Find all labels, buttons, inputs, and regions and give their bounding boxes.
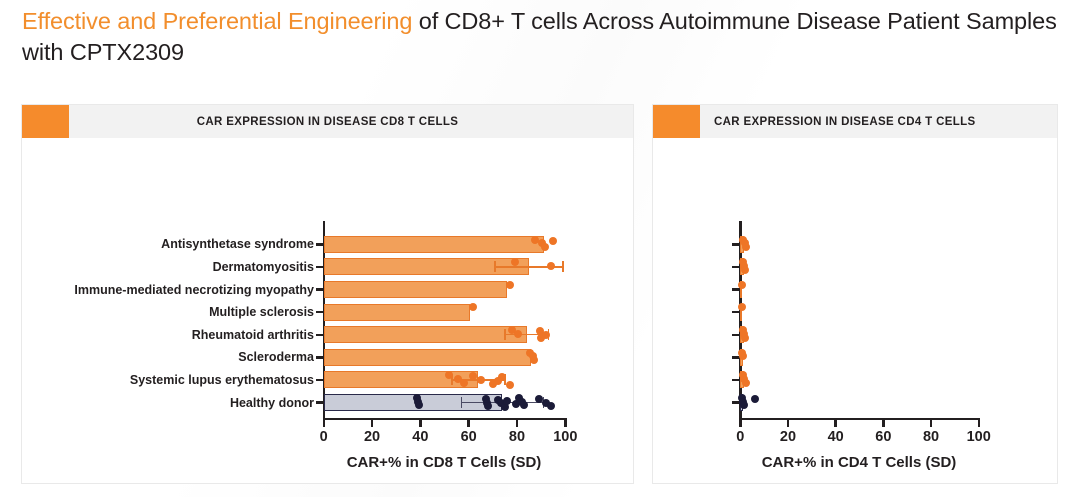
x-tick-label: 0 — [320, 429, 328, 445]
data-point — [520, 401, 528, 409]
data-point — [460, 379, 468, 387]
data-point — [738, 281, 746, 289]
chart-cd4: 020406080100CAR+% in CD4 T Cells (SD) — [653, 139, 1057, 484]
x-tick-label: 100 — [967, 429, 991, 445]
panel-cd4: CAR EXPRESSION IN DISEASE CD4 T CELLS 02… — [652, 104, 1058, 484]
data-point — [549, 237, 557, 245]
category-label: Antisynthetase syndrome — [161, 237, 314, 251]
x-tick-label: 80 — [923, 429, 939, 445]
x-tick-label: 60 — [461, 429, 477, 445]
bar — [324, 326, 527, 343]
data-point — [542, 331, 550, 339]
y-tick — [732, 311, 739, 314]
chart-cd8: 020406080100CAR+% in CD8 T Cells (SD)Ant… — [22, 139, 633, 484]
y-tick — [732, 243, 739, 246]
data-point — [477, 376, 485, 384]
x-tick — [467, 420, 470, 427]
y-tick — [316, 288, 323, 291]
category-label: Dermatomyositis — [213, 260, 314, 274]
data-point — [751, 395, 759, 403]
x-tick-label: 0 — [736, 429, 744, 445]
category-label: Rheumatoid arthritis — [192, 328, 314, 342]
panel-cd8-header: CAR EXPRESSION IN DISEASE CD8 T CELLS — [22, 105, 633, 139]
x-tick-label: 40 — [412, 429, 428, 445]
data-point — [742, 379, 750, 387]
data-point — [741, 334, 749, 342]
x-tick — [323, 420, 326, 427]
error-bar-cap — [461, 397, 463, 408]
x-tick — [930, 420, 933, 427]
error-bar-cap — [562, 261, 564, 272]
data-point — [506, 281, 514, 289]
page-title: Effective and Preferential Engineering o… — [22, 6, 1058, 68]
bar — [324, 349, 532, 366]
data-point — [547, 262, 555, 270]
bar — [324, 304, 470, 321]
x-tick — [882, 420, 885, 427]
data-point — [740, 401, 748, 409]
x-tick — [516, 420, 519, 427]
data-point — [738, 303, 746, 311]
error-bar-cap — [494, 261, 496, 272]
x-tick — [978, 420, 981, 427]
x-axis-title: CAR+% in CD8 T Cells (SD) — [347, 454, 542, 471]
x-tick — [564, 420, 567, 427]
data-point — [547, 402, 555, 410]
data-point — [511, 258, 519, 266]
category-label: Systemic lupus erythematosus — [130, 373, 314, 387]
data-point — [741, 266, 749, 274]
data-point — [742, 243, 750, 251]
chart-cd4-plot-area: 020406080100CAR+% in CD4 T Cells (SD) — [653, 139, 1059, 484]
y-tick — [316, 401, 323, 404]
x-tick-label: 80 — [509, 429, 525, 445]
data-point — [445, 371, 453, 379]
x-tick-label: 60 — [875, 429, 891, 445]
x-tick — [419, 420, 422, 427]
x-tick — [739, 420, 742, 427]
data-point — [506, 381, 514, 389]
data-point — [530, 356, 538, 364]
y-tick — [316, 379, 323, 382]
panel-cd4-header-label: CAR EXPRESSION IN DISEASE CD4 T CELLS — [700, 116, 1057, 128]
bar — [324, 236, 544, 253]
data-point — [494, 377, 502, 385]
category-label: Healthy donor — [230, 396, 314, 410]
y-tick — [316, 243, 323, 246]
x-tick-label: 20 — [364, 429, 380, 445]
data-point — [541, 243, 549, 251]
slide-root: Effective and Preferential Engineering o… — [0, 0, 1080, 497]
y-tick — [316, 266, 323, 269]
page-title-accent: Effective and Preferential Engineering — [22, 8, 412, 34]
category-label: Multiple sclerosis — [209, 305, 314, 319]
bar — [324, 281, 508, 298]
x-axis-line — [739, 418, 980, 421]
panel-cd8: CAR EXPRESSION IN DISEASE CD8 T CELLS 02… — [21, 104, 634, 484]
data-point — [503, 397, 511, 405]
panel-cd8-header-label: CAR EXPRESSION IN DISEASE CD8 T CELLS — [69, 116, 633, 128]
data-point — [469, 303, 477, 311]
x-tick — [834, 420, 837, 427]
x-tick-label: 100 — [553, 429, 577, 445]
x-tick-label: 20 — [780, 429, 796, 445]
y-tick — [732, 379, 739, 382]
y-tick — [316, 334, 323, 337]
x-tick — [787, 420, 790, 427]
data-point — [484, 402, 492, 410]
x-tick — [371, 420, 374, 427]
category-label: Scleroderma — [238, 350, 314, 364]
y-tick — [732, 334, 739, 337]
panel-cd4-swatch-icon — [653, 105, 700, 138]
y-tick — [316, 311, 323, 314]
y-tick — [732, 266, 739, 269]
y-tick — [732, 356, 739, 359]
x-axis-line — [323, 418, 567, 421]
error-bar-cap — [504, 329, 506, 340]
panel-cd4-header: CAR EXPRESSION IN DISEASE CD4 T CELLS — [653, 105, 1057, 139]
category-label: Immune-mediated necrotizing myopathy — [74, 283, 314, 297]
panel-cd8-swatch-icon — [22, 105, 69, 138]
data-point — [415, 401, 423, 409]
x-axis-title: CAR+% in CD4 T Cells (SD) — [762, 454, 957, 471]
data-point — [514, 330, 522, 338]
x-tick-label: 40 — [828, 429, 844, 445]
chart-cd8-plot-area: 020406080100CAR+% in CD8 T Cells (SD)Ant… — [22, 139, 635, 484]
y-tick — [316, 356, 323, 359]
y-tick — [732, 288, 739, 291]
data-point — [739, 352, 747, 360]
